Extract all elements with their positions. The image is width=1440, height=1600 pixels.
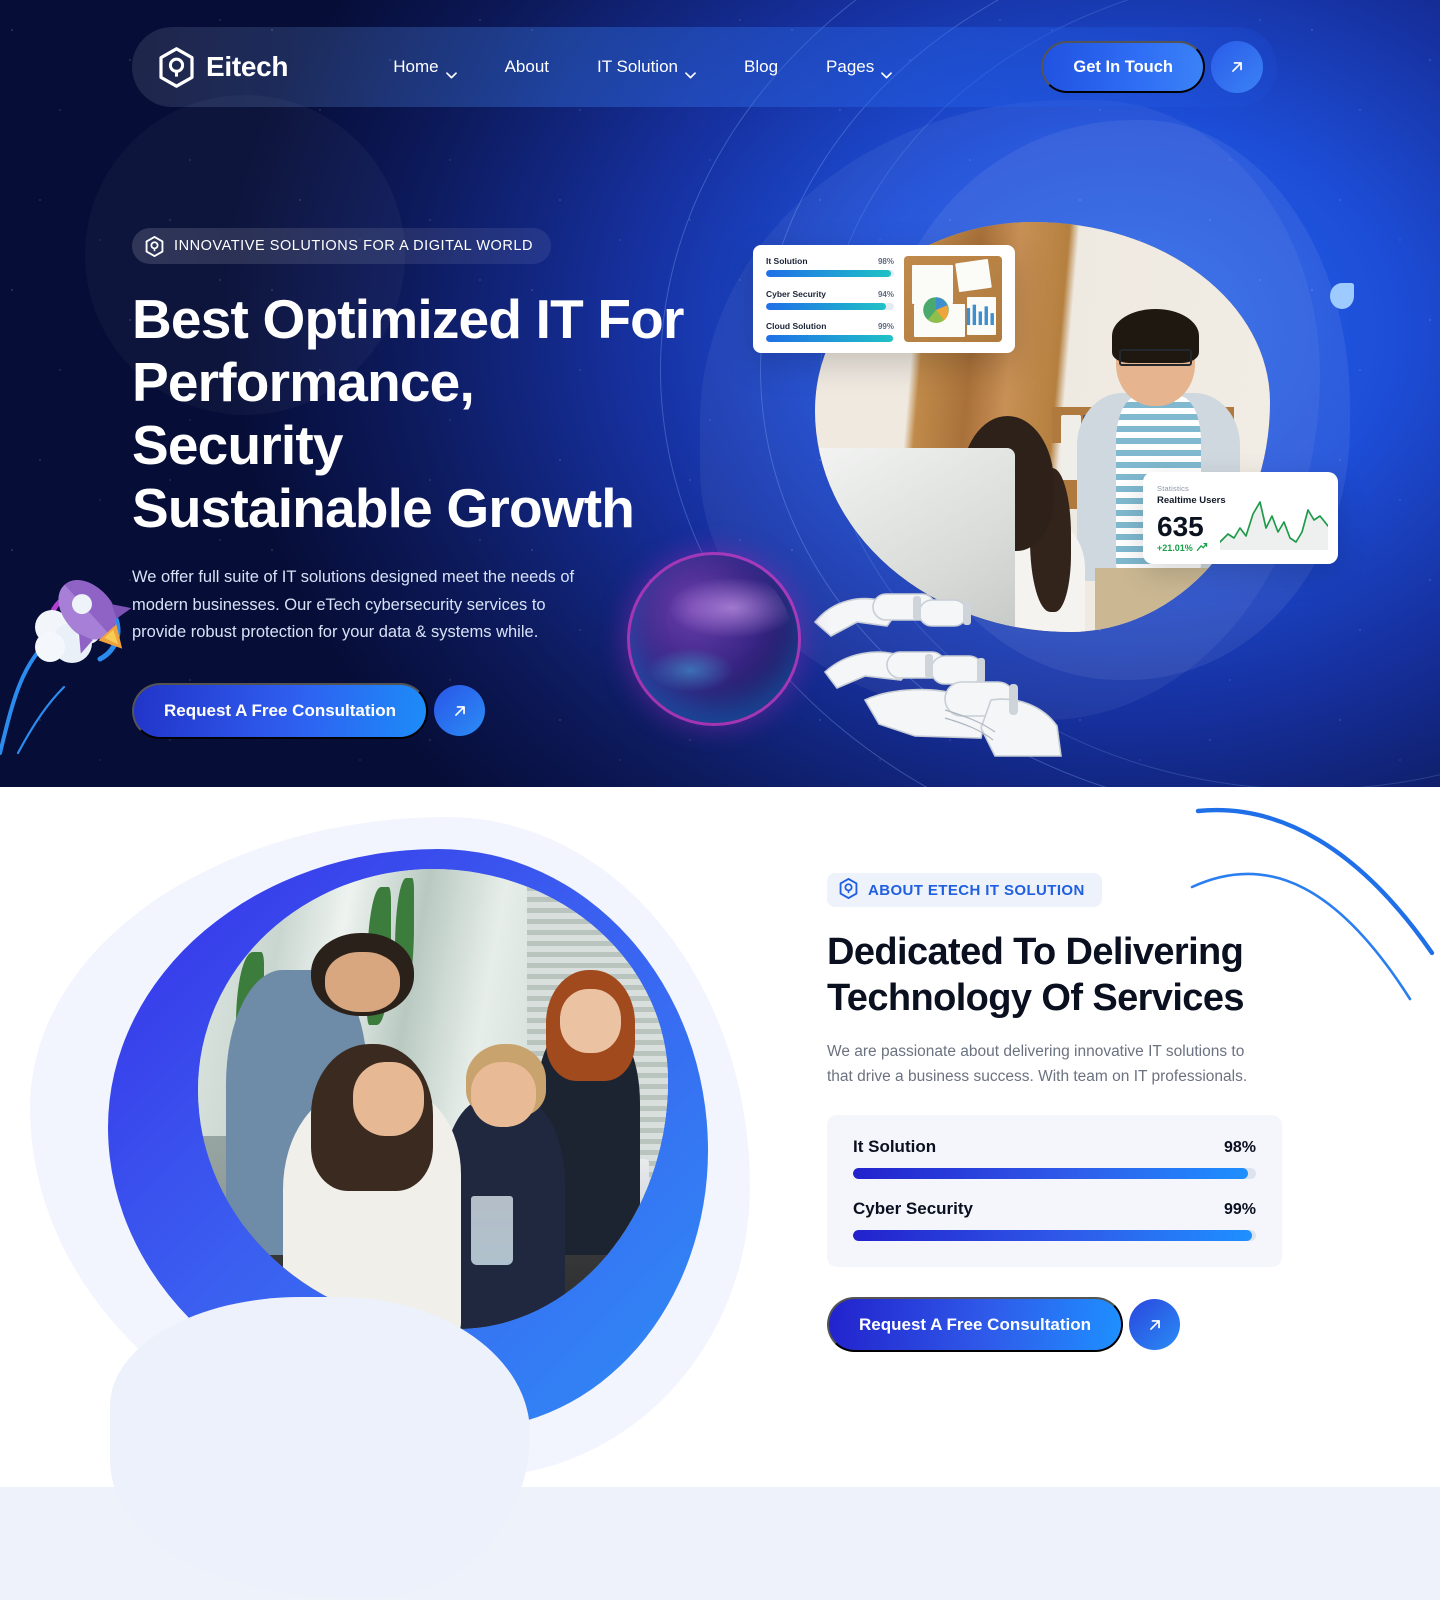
nav-cta-group: Get In Touch [1041, 41, 1263, 93]
hero-description: We offer full suite of IT solutions desi… [132, 564, 602, 647]
about-description: We are passionate about delivering innov… [827, 1039, 1267, 1089]
about-skill-card: It Solution 98% Cyber Security 99% [827, 1115, 1282, 1267]
about-badge-label: ABOUT ETECH IT SOLUTION [868, 882, 1085, 899]
about-title-line-2: Technology Of Services [827, 977, 1244, 1019]
person-face [471, 1062, 537, 1126]
skill-value: 98% [1224, 1139, 1256, 1157]
hero-skill-card: It Solution 98% Cyber Security 94% Clo [753, 245, 1015, 353]
hero-skill-label: Cloud Solution [766, 321, 826, 331]
water-glass-decoration [471, 1196, 513, 1265]
get-in-touch-button[interactable]: Get In Touch [1041, 41, 1205, 93]
hero-card-thumbnail [904, 256, 1002, 342]
hexagon-logo-icon [839, 878, 858, 903]
hero-badge-label: INNOVATIVE SOLUTIONS FOR A DIGITAL WORLD [174, 238, 533, 254]
hexagon-logo-icon [158, 47, 195, 88]
bottom-blob-decoration [110, 1297, 530, 1597]
arrow-up-right-icon[interactable] [1129, 1299, 1180, 1350]
person-face [353, 1062, 424, 1136]
about-badge: ABOUT ETECH IT SOLUTION [827, 873, 1102, 907]
realtime-users-card: Statistics Realtime Users 635 +21.01% [1143, 472, 1338, 564]
arrow-up-right-icon[interactable] [1211, 41, 1263, 93]
about-request-consultation-button[interactable]: Request A Free Consultation [827, 1297, 1123, 1352]
nav-item-blog-label: Blog [744, 57, 778, 77]
nav-item-it-solution-label: IT Solution [597, 57, 678, 77]
moon-shape-decoration [1330, 283, 1354, 309]
realtime-delta-value: +21.01% [1157, 543, 1193, 553]
about-content: ABOUT ETECH IT SOLUTION Dedicated To Del… [827, 873, 1297, 1352]
nav-item-pages-label: Pages [826, 57, 874, 77]
hero-skill-row: Cloud Solution 99% [766, 321, 894, 342]
hero-title-line-2: Performance, Security [132, 351, 474, 476]
chevron-down-icon [881, 64, 892, 71]
hero-section: Eitech Home About IT Solution Blog [0, 0, 1440, 787]
chevron-down-icon [446, 64, 457, 71]
person-face [325, 952, 400, 1012]
about-team-photo [198, 869, 668, 1329]
brand-name: Eitech [206, 51, 288, 83]
nav-links: Home About IT Solution Blog Pages [393, 57, 892, 77]
arrow-up-right-icon[interactable] [434, 685, 485, 736]
about-title: Dedicated To Delivering Technology Of Se… [827, 929, 1297, 1021]
nav-item-home-label: Home [393, 57, 438, 77]
hero-title-line-1: Best Optimized IT For [132, 288, 684, 350]
hero-skill-track [766, 270, 894, 277]
brand-logo[interactable]: Eitech [158, 47, 288, 88]
hero-skill-label: Cyber Security [766, 289, 826, 299]
skill-fill [853, 1230, 1252, 1241]
skill-track [853, 1230, 1256, 1241]
nav-item-home[interactable]: Home [393, 57, 456, 77]
skill-track [853, 1168, 1256, 1179]
hero-skill-row: Cyber Security 94% [766, 289, 894, 310]
monitor-decoration [815, 448, 1015, 633]
realtime-sparkline [1220, 498, 1328, 550]
hero-skill-label: It Solution [766, 256, 808, 266]
page-title: Best Optimized IT For Performance, Secur… [132, 288, 692, 540]
skill-row-cyber-security: Cyber Security 99% [853, 1199, 1256, 1241]
trend-up-icon [1196, 542, 1208, 554]
realtime-kicker: Statistics [1157, 484, 1324, 493]
hero-cta-group: Request A Free Consultation [132, 683, 692, 739]
skill-value: 99% [1224, 1201, 1256, 1219]
hero-badge: INNOVATIVE SOLUTIONS FOR A DIGITAL WORLD [132, 228, 551, 264]
hero-title-line-3: Sustainable Growth [132, 477, 634, 539]
hero-skill-row: It Solution 98% [766, 256, 894, 277]
skill-label: Cyber Security [853, 1199, 973, 1219]
hero-skill-track [766, 303, 894, 310]
hero-content: INNOVATIVE SOLUTIONS FOR A DIGITAL WORLD… [132, 228, 692, 739]
skill-row-it-solution: It Solution 98% [853, 1137, 1256, 1179]
hero-skill-fill [766, 335, 893, 342]
bottom-section [0, 1487, 1440, 1600]
nav-item-blog[interactable]: Blog [744, 57, 778, 77]
nav-item-it-solution[interactable]: IT Solution [597, 57, 696, 77]
globe-orb-illustration [630, 555, 798, 723]
skill-label: It Solution [853, 1137, 936, 1157]
skill-fill [853, 1168, 1248, 1179]
nav-item-pages[interactable]: Pages [826, 57, 892, 77]
hero-skill-bars: It Solution 98% Cyber Security 94% Clo [766, 256, 894, 342]
hero-skill-fill [766, 270, 891, 277]
about-title-line-1: Dedicated To Delivering [827, 931, 1243, 973]
hero-skill-fill [766, 303, 886, 310]
hero-skill-value: 98% [878, 257, 894, 266]
about-cta-group: Request A Free Consultation [827, 1297, 1297, 1352]
hero-skill-value: 99% [878, 322, 894, 331]
hero-skill-track [766, 335, 894, 342]
main-navbar: Eitech Home About IT Solution Blog [132, 27, 1277, 107]
nav-item-about-label: About [505, 57, 549, 77]
request-consultation-button[interactable]: Request A Free Consultation [132, 683, 428, 739]
chevron-down-icon [685, 64, 696, 71]
hexagon-logo-icon [145, 236, 164, 257]
hero-skill-value: 94% [878, 290, 894, 299]
person-face [560, 989, 621, 1053]
nav-item-about[interactable]: About [505, 57, 549, 77]
